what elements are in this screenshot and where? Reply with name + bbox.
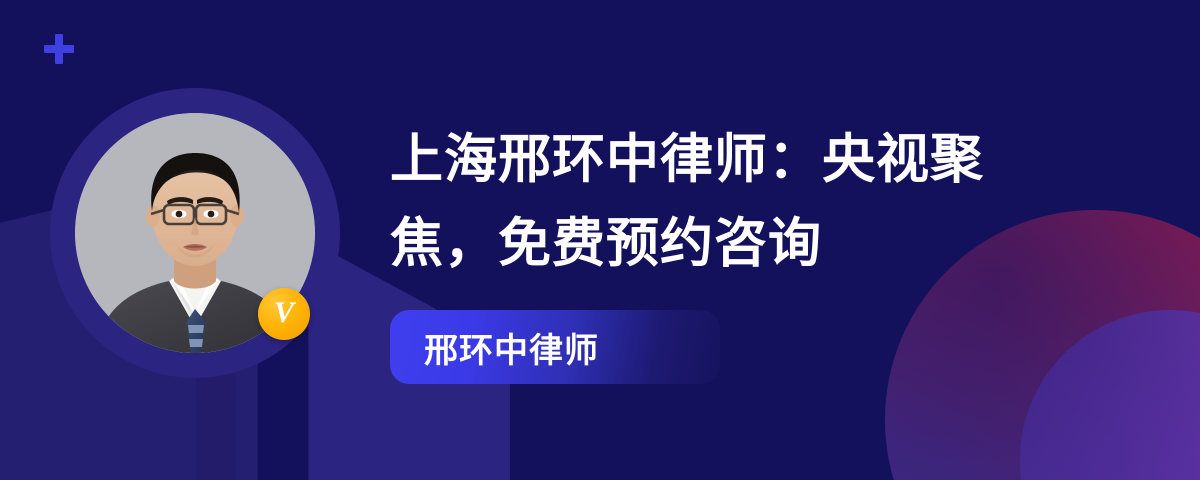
verified-badge-icon: V (258, 288, 310, 340)
page-title: 上海邢环中律师：央视聚 焦，免费预约咨询 (390, 118, 1110, 286)
headline-line-1: 上海邢环中律师：央视聚 (390, 130, 984, 189)
lawyer-cta-button[interactable]: 邢环中律师 (390, 310, 720, 384)
promo-banner: V 上海邢环中律师：央视聚 焦，免费预约咨询 邢环中律师 (0, 0, 1200, 480)
plus-icon (44, 34, 74, 64)
verified-badge-glyph: V (274, 298, 294, 328)
headline-line-2: 焦，免费预约咨询 (390, 214, 822, 273)
avatar: V (50, 88, 340, 378)
content-block: 上海邢环中律师：央视聚 焦，免费预约咨询 邢环中律师 (390, 118, 1110, 384)
